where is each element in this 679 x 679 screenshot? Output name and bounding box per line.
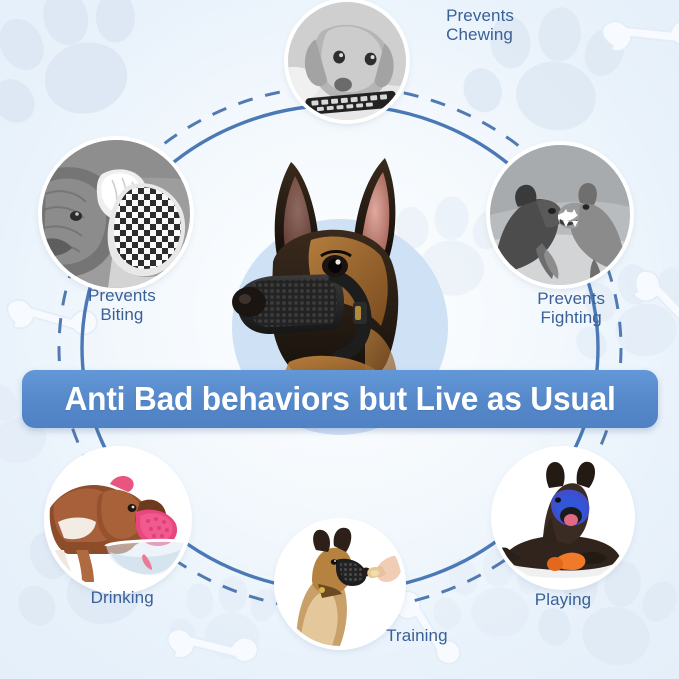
headline-banner-layer: Anti Bad behaviors but Live as Usual xyxy=(0,0,679,679)
headline-text: Anti Bad behaviors but Live as Usual xyxy=(64,380,615,418)
infographic-canvas: Prevents Chewing xyxy=(0,0,679,679)
headline-banner: Anti Bad behaviors but Live as Usual xyxy=(22,370,658,428)
